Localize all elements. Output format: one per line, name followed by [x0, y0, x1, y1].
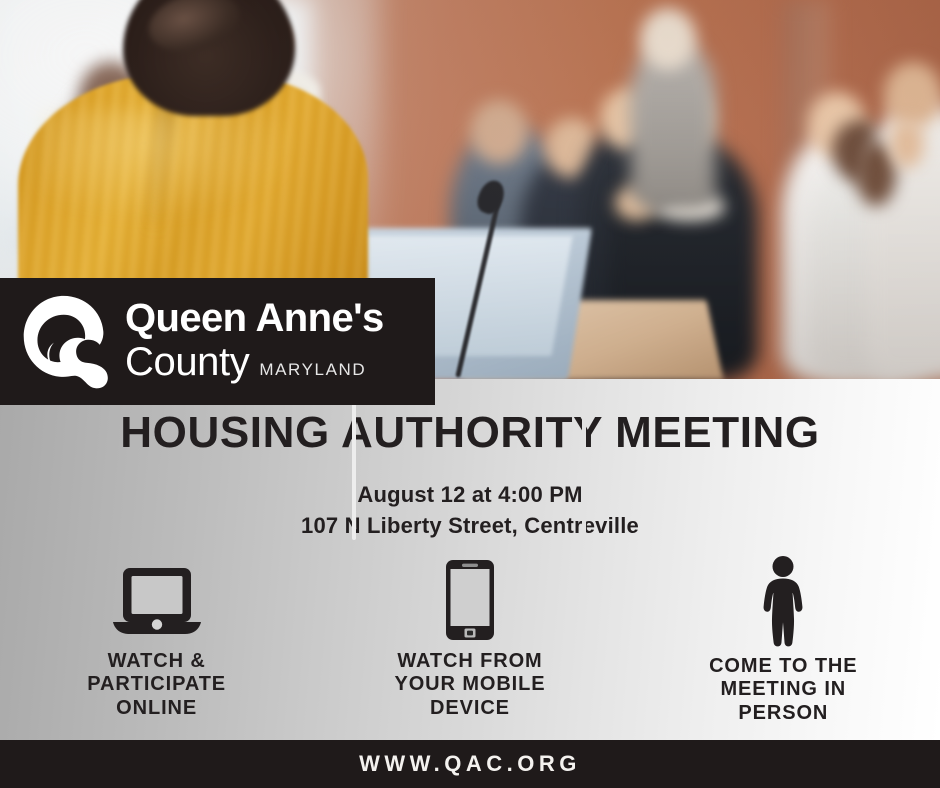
meeting-address: 107 N Liberty Street, Centreville — [0, 513, 940, 539]
county-logo-bar: Queen Anne's County MARYLAND — [0, 278, 435, 405]
laptop-icon — [111, 564, 203, 642]
logo-wordmark: Queen Anne's County MARYLAND — [125, 298, 384, 386]
option-label-line2: MEETING IN — [709, 678, 857, 701]
logo-line-county: County — [125, 342, 249, 382]
option-label-line1: WATCH & — [87, 650, 226, 673]
option-label-attend-in-person: COME TO THE MEETING IN PERSON — [709, 655, 857, 725]
website-url[interactable]: WWW.QAC.ORG — [359, 751, 581, 777]
stylized-q-wave-mark — [17, 294, 113, 390]
poster-content: HOUSING AUTHORITY MEETING August 12 at 4… — [0, 379, 940, 740]
photo-speaker-highlight — [40, 110, 300, 220]
option-label-line2: YOUR MOBILE — [394, 673, 545, 696]
laptop-icon-wrap — [111, 555, 203, 642]
option-label-watch-online: WATCH & PARTICIPATE ONLINE — [87, 650, 226, 720]
option-divider-2 — [582, 398, 586, 540]
option-label-line2: PARTICIPATE — [87, 673, 226, 696]
logo-line-maryland: MARYLAND — [259, 361, 366, 378]
smartphone-icon-wrap — [444, 555, 496, 642]
option-watch-mobile: WATCH FROM YOUR MOBILE DEVICE — [313, 555, 626, 720]
page-title: HOUSING AUTHORITY MEETING — [0, 408, 940, 458]
option-label-line1: WATCH FROM — [394, 650, 545, 673]
event-poster: Queen Anne's County MARYLAND HOUSING AUT… — [0, 0, 940, 788]
option-label-watch-mobile: WATCH FROM YOUR MOBILE DEVICE — [394, 650, 545, 720]
attendance-options: WATCH & PARTICIPATE ONLINE — [0, 555, 940, 720]
option-label-line1: COME TO THE — [709, 655, 857, 678]
option-divider-1 — [352, 398, 356, 540]
option-label-line3: DEVICE — [394, 697, 545, 720]
meeting-datetime: August 12 at 4:00 PM — [0, 482, 940, 508]
smartphone-icon — [444, 558, 496, 642]
option-attend-in-person: COME TO THE MEETING IN PERSON — [627, 555, 940, 720]
option-label-line3: ONLINE — [87, 697, 226, 720]
person-icon-wrap — [757, 555, 809, 647]
footer-bar: WWW.QAC.ORG — [0, 740, 940, 788]
logo-line-queen-annes: Queen Anne's — [125, 298, 384, 338]
option-label-line3: PERSON — [709, 702, 857, 725]
option-watch-online: WATCH & PARTICIPATE ONLINE — [0, 555, 313, 720]
person-standing-icon — [757, 555, 809, 647]
